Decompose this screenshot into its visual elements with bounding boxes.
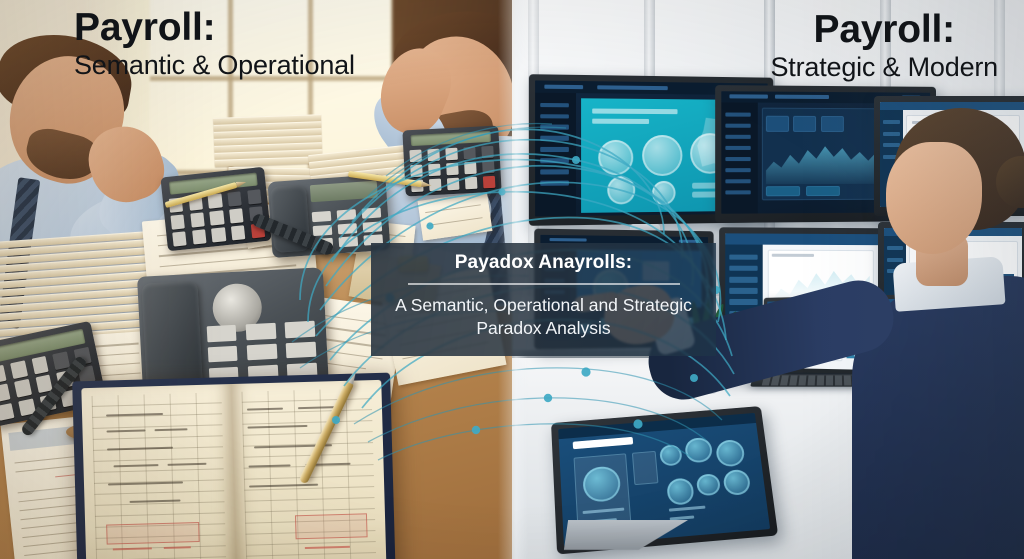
paper-stack <box>213 114 323 174</box>
center-title-card: Payadox Anayrolls: A Semantic, Operation… <box>371 243 716 356</box>
right-heading-line2: Strategic & Modern <box>770 53 998 81</box>
center-card-subtitle: A Semantic, Operational and Strategic Pa… <box>394 294 694 340</box>
search-field[interactable] <box>573 437 633 450</box>
open-ledger-book <box>81 380 386 559</box>
center-card-divider <box>408 283 680 285</box>
right-heading: Payroll: Strategic & Modern <box>770 10 998 81</box>
face-profile <box>886 142 982 254</box>
left-heading-line2: Semantic & Operational <box>74 51 355 79</box>
right-heading-line1: Payroll: <box>770 10 998 51</box>
analyst-in-navy-blazer <box>842 108 1024 559</box>
left-heading: Payroll: Semantic & Operational <box>74 8 355 79</box>
center-card-title: Payadox Anayrolls: <box>455 252 632 274</box>
left-heading-line1: Payroll: <box>74 8 355 49</box>
banner-image: Payroll: Semantic & Operational Payroll:… <box>0 0 1024 559</box>
desk-calculator <box>160 167 271 251</box>
